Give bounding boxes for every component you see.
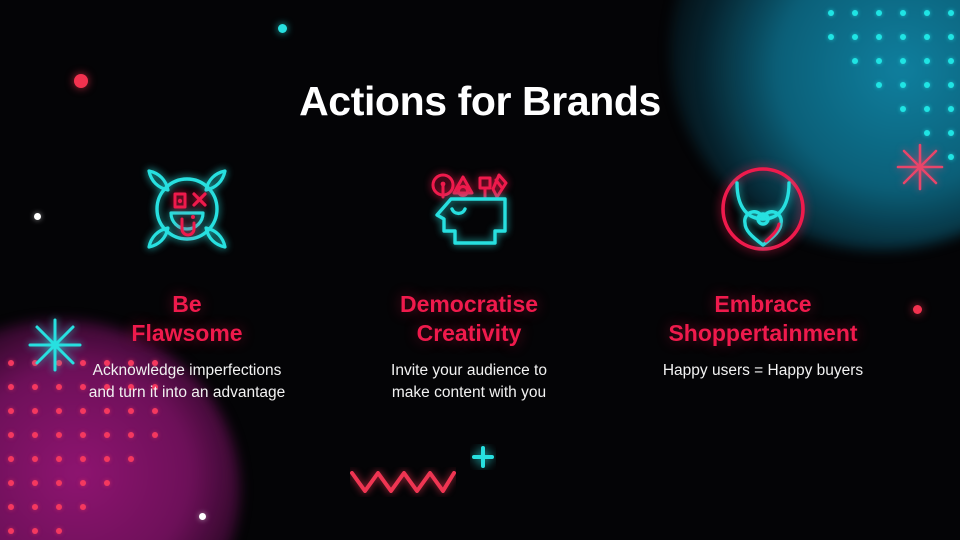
neon-heart-necklace-icon (703, 150, 823, 268)
grid-dot (32, 432, 38, 438)
grid-dot (32, 528, 38, 534)
neon-crazy-face-icon (127, 150, 247, 268)
feature-heading-line-2: Flawsome (131, 319, 242, 348)
grid-dot (876, 34, 882, 40)
grid-dot (900, 58, 906, 64)
grid-dot (924, 34, 930, 40)
feature-description: Acknowledge imperfections and turn it in… (89, 360, 285, 405)
feature-heading-line-1: Be (131, 290, 242, 319)
feature-description-line-1: Happy users = Happy buyers (663, 360, 863, 382)
grid-dot (104, 408, 110, 414)
columns-container: Be Flawsome Acknowledge imperfections an… (60, 150, 900, 405)
grid-dot (32, 504, 38, 510)
grid-dot (152, 432, 158, 438)
grid-dot (924, 10, 930, 16)
grid-dot (80, 432, 86, 438)
grid-dot (8, 432, 14, 438)
grid-dot (32, 480, 38, 486)
grid-dot (104, 456, 110, 462)
grid-dot (8, 384, 14, 390)
grid-dot (876, 10, 882, 16)
grid-dot (128, 408, 134, 414)
feature-description: Invite your audience to make content wit… (391, 360, 547, 405)
plus-icon (470, 444, 496, 475)
grid-dot (900, 34, 906, 40)
grid-dot (8, 480, 14, 486)
feature-description-line-1: Invite your audience to (391, 360, 547, 382)
grid-dot (32, 408, 38, 414)
grid-dot (924, 58, 930, 64)
feature-column-embrace-shoppertainment: Embrace Shoppertainment Happy users = Ha… (613, 150, 913, 405)
accent-dot-pink-right (913, 305, 922, 314)
accent-dot-white-left (34, 213, 41, 220)
feature-description-line-1: Acknowledge imperfections (89, 360, 285, 382)
feature-heading: Be Flawsome (131, 290, 242, 348)
grid-dot (852, 10, 858, 16)
grid-dot (8, 360, 14, 366)
grid-dot (948, 10, 954, 16)
grid-dot (32, 456, 38, 462)
feature-heading-line-1: Embrace (668, 290, 857, 319)
grid-dot (828, 10, 834, 16)
grid-dot (80, 408, 86, 414)
feature-heading: Embrace Shoppertainment (668, 290, 857, 348)
feature-column-be-flawsome: Be Flawsome Acknowledge imperfections an… (52, 150, 322, 405)
grid-dot (152, 408, 158, 414)
grid-dot (32, 384, 38, 390)
grid-dot (56, 432, 62, 438)
accent-dot-white-bottom (199, 513, 206, 520)
grid-dot (828, 34, 834, 40)
grid-dot (104, 480, 110, 486)
grid-dot (948, 154, 954, 160)
feature-description: Happy users = Happy buyers (663, 360, 863, 382)
grid-dot (104, 432, 110, 438)
grid-dot (924, 130, 930, 136)
feature-description-line-2: and turn it into an advantage (89, 382, 285, 404)
grid-dot (8, 528, 14, 534)
neon-creative-head-icon (409, 150, 529, 268)
feature-heading-line-2: Shoppertainment (668, 319, 857, 348)
grid-dot (900, 10, 906, 16)
grid-dot (128, 432, 134, 438)
grid-dot (80, 504, 86, 510)
accent-dot-cyan-top (278, 24, 287, 33)
slide-canvas: Actions for Brands (0, 0, 960, 540)
grid-dot (56, 528, 62, 534)
grid-dot (8, 456, 14, 462)
grid-dot (948, 34, 954, 40)
feature-heading-line-2: Creativity (400, 319, 538, 348)
grid-dot (948, 130, 954, 136)
grid-dot (80, 480, 86, 486)
grid-dot (876, 58, 882, 64)
grid-dot (56, 408, 62, 414)
grid-dot (948, 58, 954, 64)
feature-heading-line-1: Democratise (400, 290, 538, 319)
grid-dot (56, 480, 62, 486)
feature-column-democratise-creativity: Democratise Creativity Invite your audie… (334, 150, 604, 405)
feature-description-line-2: make content with you (391, 382, 547, 404)
grid-dot (56, 504, 62, 510)
grid-dot (80, 456, 86, 462)
zigzag-icon (350, 467, 456, 502)
page-title: Actions for Brands (0, 78, 960, 125)
grid-dot (8, 504, 14, 510)
grid-dot (852, 58, 858, 64)
grid-dot (8, 408, 14, 414)
grid-dot (128, 456, 134, 462)
grid-dot (56, 456, 62, 462)
feature-heading: Democratise Creativity (400, 290, 538, 348)
grid-dot (852, 34, 858, 40)
